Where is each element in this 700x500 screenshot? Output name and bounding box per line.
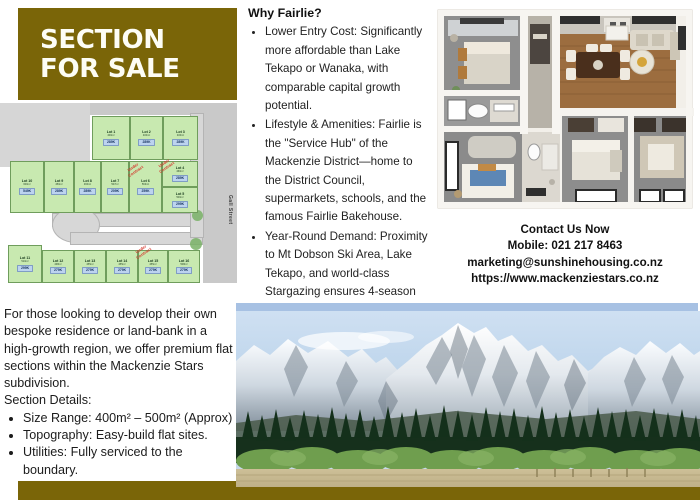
lot-area: 510m² <box>21 260 28 263</box>
subdivision-site-map[interactable]: Lot 1 400m² 289K Lot 2 400m² 289K Lot 3 … <box>0 103 237 303</box>
why-fairlie-list: Lower Entry Cost: Significantly more aff… <box>248 23 431 320</box>
contact-mobile[interactable]: Mobile: 021 217 8463 <box>434 238 696 254</box>
floorplan-render <box>434 4 696 212</box>
contact-heading: Contact Us Now <box>434 222 696 238</box>
floorplan-svg <box>434 4 696 212</box>
list-item: Lower Entry Cost: Significantly more aff… <box>265 23 431 115</box>
intro-paragraph: For those looking to develop their own b… <box>4 306 236 392</box>
lot-price: 299K <box>17 265 33 272</box>
map-lot-lot-11[interactable]: Lot 11 510m² 299K <box>8 245 42 283</box>
why-fairlie-heading: Why Fairlie? <box>248 4 431 22</box>
lot-area: 400m² <box>107 134 114 137</box>
lot-area: 460m² <box>84 183 91 186</box>
map-lot-lot-7[interactable]: Lot 7 507m² 209K <box>101 161 129 213</box>
lot-price: 299K <box>172 201 188 208</box>
lot-area: 563m² <box>142 183 149 186</box>
lot-area: 500m² <box>176 196 183 199</box>
lot-area: 450m² <box>55 183 62 186</box>
section-details-list: Size Range: 400m² – 500m² (Approx) Topog… <box>4 410 236 479</box>
map-lot-lot-10[interactable]: Lot 10 600m² 549K <box>10 161 44 213</box>
list-item: Utilities: Fully serviced to the boundar… <box>23 444 236 479</box>
lot-price: 289K <box>51 188 67 195</box>
lot-area: 507m² <box>111 183 118 186</box>
map-lot-lot-3[interactable]: Lot 3 400m² 289K <box>163 116 198 160</box>
lot-area: 400m² <box>177 134 184 137</box>
map-lot-lot-16[interactable]: Lot 16 508m² 279K <box>168 250 200 283</box>
lot-area: 400m² <box>143 134 150 137</box>
site-map-canvas: Lot 1 400m² 289K Lot 2 400m² 289K Lot 3 … <box>0 103 237 303</box>
floorplan-image <box>434 4 696 212</box>
list-item: Size Range: 400m² – 500m² (Approx) <box>23 410 236 427</box>
intro-text-block: For those looking to develop their own b… <box>4 306 236 479</box>
lot-price: 289K <box>138 139 154 146</box>
lot-price: 209K <box>107 188 123 195</box>
photo-render <box>236 311 700 489</box>
bottom-gold-bar-left <box>18 481 236 500</box>
section-details-heading: Section Details: <box>4 392 236 409</box>
map-lot-lot-14[interactable]: Lot 14 455m² 279K <box>106 250 138 283</box>
map-road-lower <box>70 232 203 245</box>
lot-price: 289K <box>103 139 119 146</box>
brochure-page: SECTION FOR SALE Lot 1 400m² 289K <box>0 0 700 500</box>
contact-block: Contact Us Now Mobile: 021 217 8463 mark… <box>434 222 696 288</box>
lot-area: 600m² <box>23 183 30 186</box>
lot-area: 508m² <box>180 263 187 266</box>
section-for-sale-banner: SECTION FOR SALE <box>18 8 237 100</box>
list-item: Lifestyle & Amenities: Fairlie is the "S… <box>265 116 431 226</box>
lot-price: 279K <box>145 267 161 274</box>
lot-price: 289K <box>172 175 188 182</box>
lot-price: 549K <box>19 188 35 195</box>
lot-area: 455m² <box>118 263 125 266</box>
map-bottom-margin <box>0 283 237 303</box>
map-lot-lot-9[interactable]: Lot 9 450m² 289K <box>44 161 74 213</box>
map-lot-lot-2[interactable]: Lot 2 400m² 289K <box>130 116 163 160</box>
lot-price: 279K <box>50 267 66 274</box>
lot-price: 259K <box>137 188 153 195</box>
why-fairlie-block: Why Fairlie? Lower Entry Cost: Significa… <box>248 4 431 321</box>
list-item: Topography: Easy-build flat sites. <box>23 427 236 444</box>
map-lot-lot-8[interactable]: Lot 8 460m² 289K <box>74 161 101 213</box>
map-shrub-icon-2 <box>190 238 202 250</box>
gall-street-label: Gall Street <box>227 195 233 224</box>
map-lot-lot-13[interactable]: Lot 13 455m² 279K <box>74 250 106 283</box>
lot-area: 455m² <box>149 263 156 266</box>
bottom-gold-bar-right <box>236 487 700 500</box>
lot-price: 289K <box>172 139 188 146</box>
map-grey-block-top-left <box>0 103 90 167</box>
lot-price: 279K <box>82 267 98 274</box>
lot-area: 438m² <box>54 263 61 266</box>
map-lot-lot-1[interactable]: Lot 1 400m² 289K <box>92 116 130 160</box>
map-lot-lot-12[interactable]: Lot 12 438m² 279K <box>42 250 74 283</box>
lot-price: 279K <box>176 267 192 274</box>
map-lot-lot-5[interactable]: Lot 5 500m² 299K <box>162 187 198 213</box>
lot-area: 460m² <box>176 170 183 173</box>
lot-price: 279K <box>114 267 130 274</box>
contact-email[interactable]: marketing@sunshinehousing.co.nz <box>434 255 696 271</box>
banner-line-2: FOR SALE <box>40 56 237 82</box>
photo-svg <box>236 311 700 489</box>
banner-line-1: SECTION <box>40 27 237 53</box>
lot-price: 289K <box>79 188 95 195</box>
mountain-landscape-photo <box>236 311 700 489</box>
contact-website[interactable]: https://www.mackenziestars.co.nz <box>434 271 696 287</box>
lot-area: 455m² <box>86 263 93 266</box>
